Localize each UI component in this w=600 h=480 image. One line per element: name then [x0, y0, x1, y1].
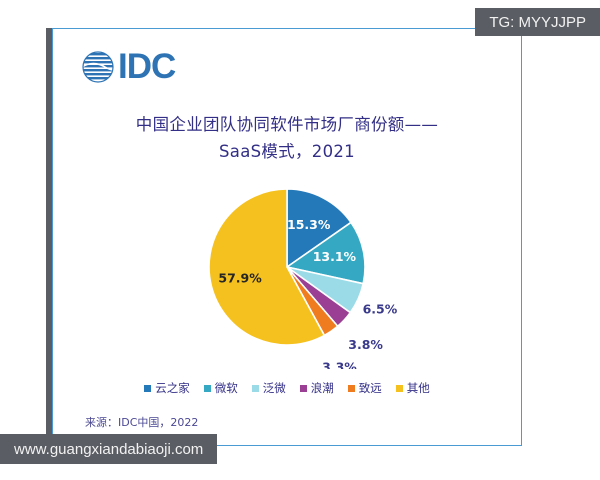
pie-slice-label: 6.5% — [363, 301, 398, 316]
legend-item[interactable]: 泛微 — [252, 380, 286, 396]
pie-chart: 15.3%13.1%6.5%3.8%3.3%57.9% — [137, 179, 437, 369]
legend-label: 致远 — [359, 380, 382, 396]
legend-swatch — [144, 385, 151, 392]
legend-item[interactable]: 云之家 — [144, 380, 190, 396]
legend-swatch — [300, 385, 307, 392]
chart-card: IDC 中国企业团队协同软件市场厂商份额—— SaaS模式，2021 15.3%… — [52, 28, 522, 446]
pie-chart-area: 15.3%13.1%6.5%3.8%3.3%57.9% — [53, 179, 521, 369]
legend-swatch — [252, 385, 259, 392]
pie-slice-label: 57.9% — [218, 271, 262, 286]
pie-slice-label: 3.3% — [322, 359, 357, 369]
globe-icon — [81, 50, 115, 84]
chart-title-line1: 中国企业团队协同软件市场厂商份额—— — [136, 115, 438, 134]
legend-item[interactable]: 致远 — [348, 380, 382, 396]
idc-logo-text: IDC — [118, 49, 175, 84]
legend-swatch — [348, 385, 355, 392]
watermark-top-right: TG: MYYJJPP — [475, 8, 600, 36]
legend-item[interactable]: 其他 — [396, 380, 430, 396]
legend-label: 泛微 — [263, 380, 286, 396]
legend-label: 微软 — [215, 380, 238, 396]
legend-item[interactable]: 浪潮 — [300, 380, 334, 396]
pie-slice-label: 3.8% — [348, 337, 383, 352]
legend-label: 其他 — [407, 380, 430, 396]
legend-item[interactable]: 微软 — [204, 380, 238, 396]
chart-title-line2: SaaS模式，2021 — [53, 138, 521, 165]
idc-logo: IDC — [81, 49, 175, 84]
source-note: 来源：IDC中国，2022 — [85, 414, 198, 430]
chart-title: 中国企业团队协同软件市场厂商份额—— SaaS模式，2021 — [53, 111, 521, 165]
legend-swatch — [204, 385, 211, 392]
legend-swatch — [396, 385, 403, 392]
chart-legend: 云之家微软泛微浪潮致远其他 — [53, 380, 521, 396]
pie-slice-label: 13.1% — [313, 249, 357, 264]
legend-label: 云之家 — [155, 380, 190, 396]
pie-slice-label: 15.3% — [287, 217, 331, 232]
legend-label: 浪潮 — [311, 380, 334, 396]
watermark-bottom-left: www.guangxiandabiaoji.com — [0, 434, 217, 464]
